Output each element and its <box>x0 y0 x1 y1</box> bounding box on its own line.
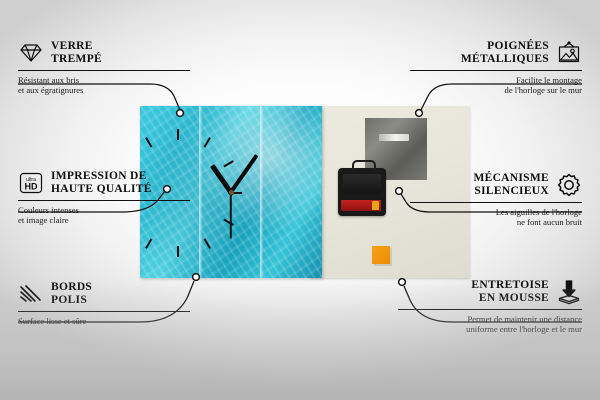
feature-title: VERRE TREMPÉ <box>51 40 102 66</box>
feature-heading: POIGNÉES MÉTALLIQUES <box>410 40 582 66</box>
polished-edges-icon <box>18 281 44 307</box>
clock-tick <box>223 219 234 226</box>
feature-divider <box>398 309 582 310</box>
feature-impression-haute-qualite: ultra HD IMPRESSION DE HAUTE QUALITÉ Cou… <box>18 170 190 226</box>
feature-desc-line2: et image claire <box>18 215 190 225</box>
clock-second-hand <box>230 189 232 239</box>
diamond-icon <box>18 40 44 66</box>
feature-desc-line1: Couleurs intenses <box>18 205 190 215</box>
feature-heading: ultra HD IMPRESSION DE HAUTE QUALITÉ <box>18 170 190 196</box>
mechanism-battery <box>341 200 381 211</box>
feature-divider <box>18 70 190 71</box>
feature-desc-line1: Résistant aux bris <box>18 75 190 85</box>
feature-heading: VERRE TREMPÉ <box>18 40 190 66</box>
clock-mechanism <box>338 168 386 216</box>
feature-verre-trempe: VERRE TREMPÉ Résistant aux bris et aux é… <box>18 40 190 96</box>
clock-tick <box>204 238 211 249</box>
feature-mecanisme-silencieux: MÉCANISME SILENCIEUX Les aiguilles de l'… <box>410 172 582 228</box>
clock-tick <box>204 137 211 148</box>
foam-spacer-pad <box>372 246 390 264</box>
feature-divider <box>18 200 190 201</box>
svg-text:HD: HD <box>25 182 38 192</box>
clock-tick <box>145 137 152 148</box>
feature-divider <box>410 202 582 203</box>
clock-tick <box>145 238 152 249</box>
feature-desc-line2: et aux égratignures <box>18 85 190 95</box>
infographic-canvas: VERRE TREMPÉ Résistant aux bris et aux é… <box>0 0 600 400</box>
clock-center-pivot <box>229 190 234 195</box>
feature-title: IMPRESSION DE HAUTE QUALITÉ <box>51 170 152 196</box>
picture-frame-hanger-icon <box>556 40 582 66</box>
mechanism-body <box>343 174 381 194</box>
feature-desc-line2: uniforme entre l'horloge et le mur <box>398 324 582 334</box>
hanger-slot <box>379 134 409 141</box>
clock-tick <box>177 129 179 140</box>
mechanism-hanging-loop <box>352 160 376 174</box>
feature-entretoise-en-mousse: ENTRETOISE EN MOUSSE Permet de maintenir… <box>398 279 582 335</box>
clock-tick <box>177 246 179 257</box>
feature-title: BORDS POLIS <box>51 281 92 307</box>
feature-divider <box>410 70 582 71</box>
foam-spacer-arrow-icon <box>556 279 582 305</box>
feature-desc-line1: Facilite le montage <box>410 75 582 85</box>
feature-desc-line1: Permet de maintenir une distance <box>398 314 582 324</box>
feature-title: MÉCANISME SILENCIEUX <box>473 172 549 198</box>
feature-title: ENTRETOISE EN MOUSSE <box>471 279 549 305</box>
feature-bords-polis: BORDS POLIS Surface lisse et sûre <box>18 281 190 326</box>
gear-icon <box>556 172 582 198</box>
feature-heading: BORDS POLIS <box>18 281 190 307</box>
feature-heading: MÉCANISME SILENCIEUX <box>410 172 582 198</box>
feature-title: POIGNÉES MÉTALLIQUES <box>461 40 549 66</box>
ultra-hd-icon: ultra HD <box>18 170 44 196</box>
feature-desc-line1: Les aiguilles de l'horloge <box>410 207 582 217</box>
feature-desc-line1: Surface lisse et sûre <box>18 316 190 326</box>
feature-desc-line2: de l'horloge sur le mur <box>410 85 582 95</box>
clock-tick <box>223 160 234 167</box>
feature-heading: ENTRETOISE EN MOUSSE <box>398 279 582 305</box>
feature-desc-line2: ne font aucun bruit <box>410 217 582 227</box>
feature-poignees-metalliques: POIGNÉES MÉTALLIQUES Facilite le montage… <box>410 40 582 96</box>
feature-divider <box>18 311 190 312</box>
